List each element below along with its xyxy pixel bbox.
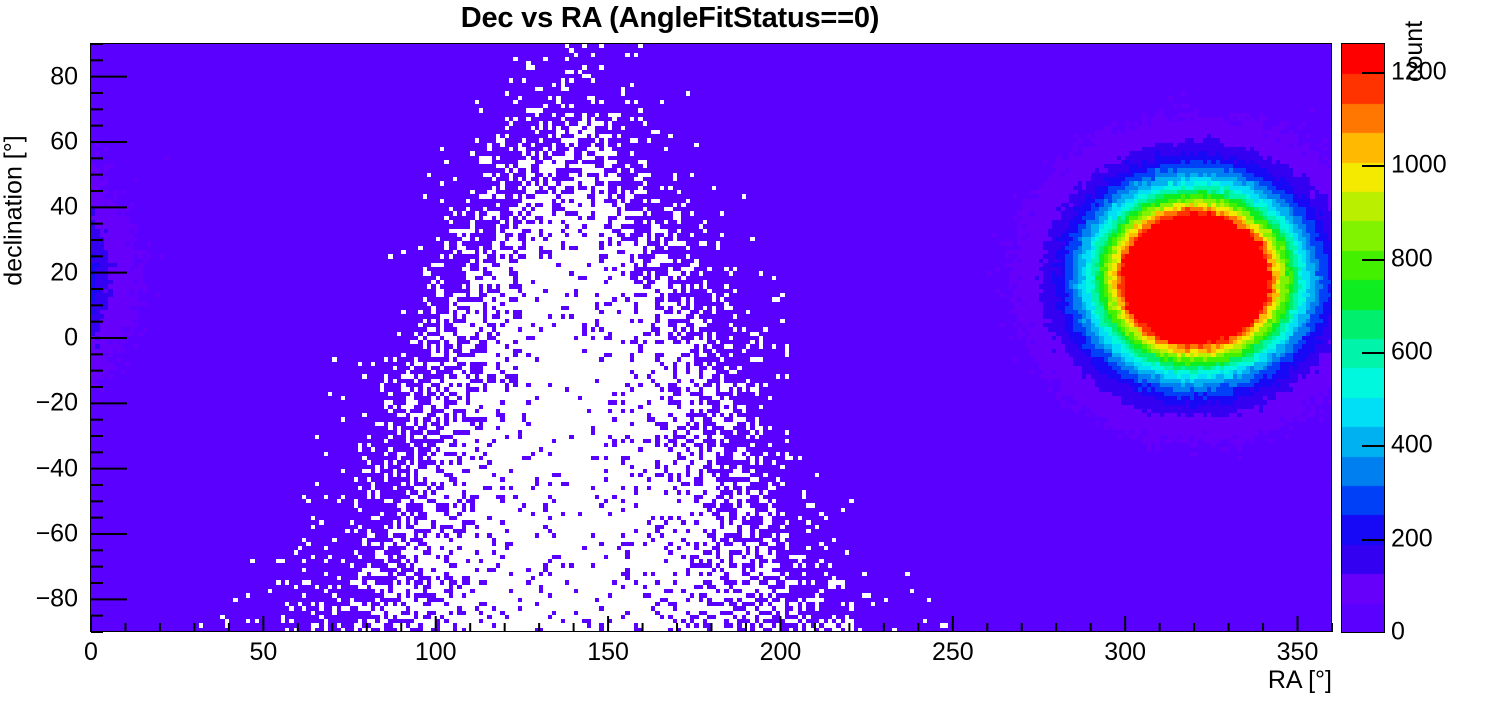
z-tick-label: 400 — [1391, 431, 1433, 460]
histogram-plot-area[interactable] — [91, 44, 1332, 632]
x-tick-label: 0 — [84, 638, 98, 667]
z-tick-label: 800 — [1391, 244, 1433, 273]
z-tick-mark — [1362, 352, 1384, 354]
x-tick-label: 100 — [415, 638, 457, 667]
z-tick-mark — [1362, 165, 1384, 167]
x-axis-title: RA [°] — [1268, 666, 1332, 695]
x-tick-label: 350 — [1277, 638, 1319, 667]
x-tick-label: 300 — [1104, 638, 1146, 667]
z-tick-mark — [1362, 72, 1384, 74]
x-tick-label: 150 — [587, 638, 629, 667]
y-tick-label: 40 — [0, 193, 78, 222]
page-title: Dec vs RA (AngleFitStatus==0) — [0, 2, 1340, 35]
root-plot-canvas: Dec vs RA (AngleFitStatus==0) RA [°] dec… — [0, 0, 1496, 722]
z-tick-label: 600 — [1391, 338, 1433, 367]
y-tick-label: −80 — [0, 585, 78, 614]
y-tick-label: −60 — [0, 520, 78, 549]
y-tick-label: 80 — [0, 62, 78, 91]
x-tick-label: 50 — [249, 638, 277, 667]
z-tick-label: 1200 — [1391, 58, 1447, 87]
z-tick-label: 1000 — [1391, 151, 1447, 180]
z-tick-mark — [1362, 259, 1384, 261]
x-tick-label: 200 — [760, 638, 802, 667]
x-tick-label: 250 — [932, 638, 974, 667]
color-bar[interactable] — [1342, 44, 1384, 632]
y-tick-label: 20 — [0, 258, 78, 287]
z-tick-label: 0 — [1391, 618, 1405, 647]
z-tick-mark — [1362, 445, 1384, 447]
y-tick-label: 60 — [0, 128, 78, 157]
y-tick-label: −20 — [0, 389, 78, 418]
z-tick-mark — [1362, 539, 1384, 541]
z-tick-label: 200 — [1391, 524, 1433, 553]
y-tick-label: 0 — [0, 324, 78, 353]
y-tick-label: −40 — [0, 454, 78, 483]
